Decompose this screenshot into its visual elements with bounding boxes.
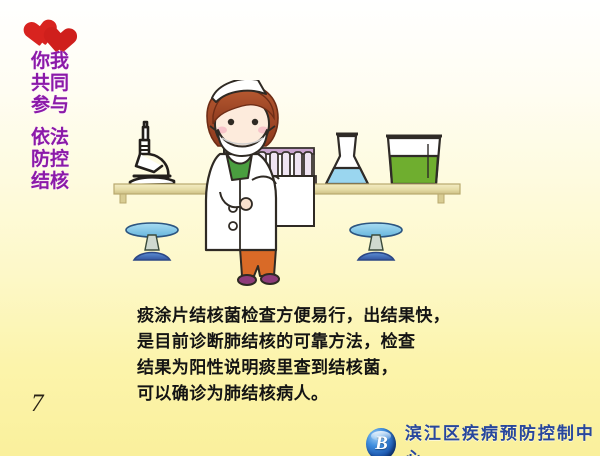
body-line-3: 结果为阳性说明痰里查到结核菌，	[137, 355, 557, 381]
stool-right-icon	[350, 223, 402, 260]
microscope-icon	[130, 122, 174, 185]
organization-name: 滨江区疾病预防控制中心	[405, 419, 600, 456]
slogan-line-1: 你我共同参与	[30, 50, 70, 116]
slogan-spacer	[30, 116, 70, 126]
nurse-in-laboratory-illustration	[100, 80, 500, 300]
body-line-4: 可以确诊为肺结核病人。	[137, 381, 557, 407]
body-paragraph: 痰涂片结核菌检查方便易行，出结果快， 是目前诊断肺结核的可靠方法，检查 结果为阳…	[137, 303, 557, 407]
slogan-line-2: 依法防控结核	[30, 126, 70, 192]
stool-left-icon	[126, 223, 178, 260]
cdc-logo-icon: B	[366, 428, 396, 456]
campaign-slogan: 你我共同参与 依法防控结核	[30, 50, 70, 192]
nurse-character	[206, 80, 314, 285]
green-beaker-icon	[386, 136, 442, 184]
blue-erlenmeyer-flask-icon	[326, 134, 368, 184]
footer-branding: B 滨江区疾病预防控制中心	[366, 419, 600, 456]
poster-slide: 你我共同参与 依法防控结核	[0, 0, 600, 456]
page-number: 7	[31, 390, 44, 418]
body-line-1: 痰涂片结核菌检查方便易行，出结果快，	[137, 303, 557, 329]
logo-letter: B	[366, 428, 396, 456]
body-line-2: 是目前诊断肺结核的可靠方法，检查	[137, 329, 557, 355]
